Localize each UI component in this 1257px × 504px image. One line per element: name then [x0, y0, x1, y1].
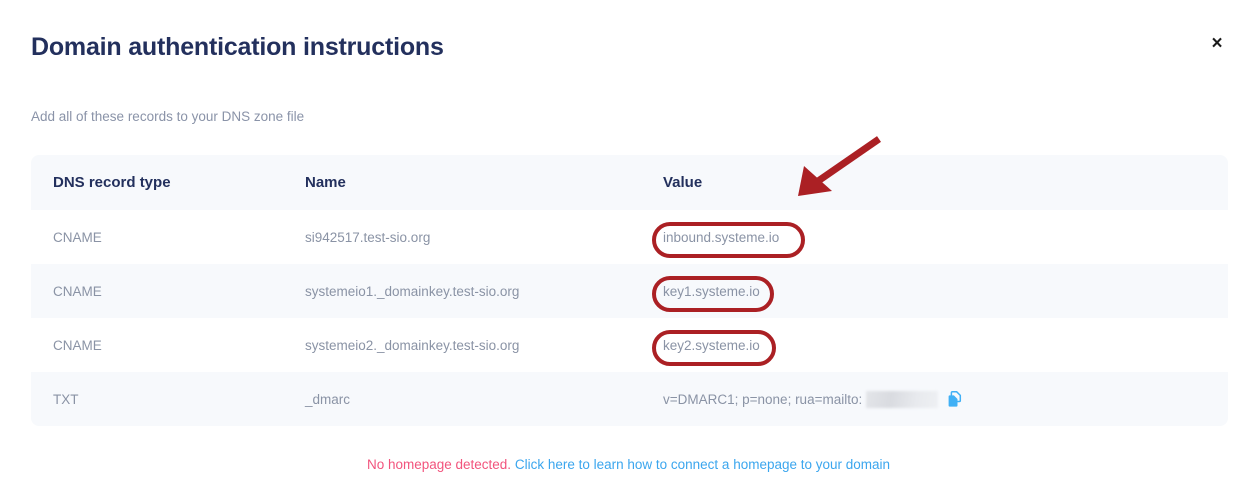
dialog-subtitle: Add all of these records to your DNS zon…	[31, 109, 304, 124]
cell-record-type: CNAME	[31, 210, 305, 264]
cell-record-value: key1.systeme.io	[663, 264, 1228, 318]
cell-record-name: systemeio1._domainkey.test-sio.org	[305, 264, 663, 318]
column-header-name: Name	[305, 155, 663, 210]
homepage-status-note: No homepage detected. Click here to lear…	[0, 457, 1257, 472]
domain-authentication-dialog: × Domain authentication instructions Add…	[0, 0, 1257, 504]
cell-record-value: key2.systeme.io	[663, 318, 1228, 372]
page-title: Domain authentication instructions	[31, 33, 444, 62]
value-wrapper: v=DMARC1; p=none; rua=mailto:	[663, 372, 1228, 426]
value-wrapper: key2.systeme.io	[663, 318, 1228, 372]
homepage-warning-text: No homepage detected.	[367, 457, 511, 472]
dns-records-table: DNS record type Name Value CNAME si94251…	[31, 155, 1228, 426]
value-wrapper: inbound.systeme.io	[663, 210, 1228, 264]
cell-record-type: CNAME	[31, 264, 305, 318]
table-header: DNS record type Name Value	[31, 155, 1228, 210]
cell-record-name: systemeio2._domainkey.test-sio.org	[305, 318, 663, 372]
table-row: CNAME systemeio2._domainkey.test-sio.org…	[31, 318, 1228, 372]
cell-record-name: si942517.test-sio.org	[305, 210, 663, 264]
cell-record-value: inbound.systeme.io	[663, 210, 1228, 264]
table-row: CNAME systemeio1._domainkey.test-sio.org…	[31, 264, 1228, 318]
copy-icon[interactable]	[947, 391, 963, 408]
cell-record-value: v=DMARC1; p=none; rua=mailto:	[663, 372, 1228, 426]
column-header-value: Value	[663, 155, 1228, 210]
close-icon[interactable]: ×	[1204, 30, 1230, 56]
cell-record-type: TXT	[31, 372, 305, 426]
value-text: inbound.systeme.io	[663, 230, 779, 245]
cell-record-type: CNAME	[31, 318, 305, 372]
value-wrapper: key1.systeme.io	[663, 264, 1228, 318]
redacted-email-block	[866, 391, 938, 408]
cell-record-name: _dmarc	[305, 372, 663, 426]
table-row: TXT _dmarc v=DMARC1; p=none; rua=mailto:	[31, 372, 1228, 426]
table-body: CNAME si942517.test-sio.org inbound.syst…	[31, 210, 1228, 426]
value-text: v=DMARC1; p=none; rua=mailto:	[663, 392, 862, 407]
column-header-dns-record-type: DNS record type	[31, 155, 305, 210]
table-row: CNAME si942517.test-sio.org inbound.syst…	[31, 210, 1228, 264]
value-text: key1.systeme.io	[663, 284, 760, 299]
connect-homepage-link[interactable]: Click here to learn how to connect a hom…	[515, 457, 890, 472]
table-header-row: DNS record type Name Value	[31, 155, 1228, 210]
value-text: key2.systeme.io	[663, 338, 760, 353]
